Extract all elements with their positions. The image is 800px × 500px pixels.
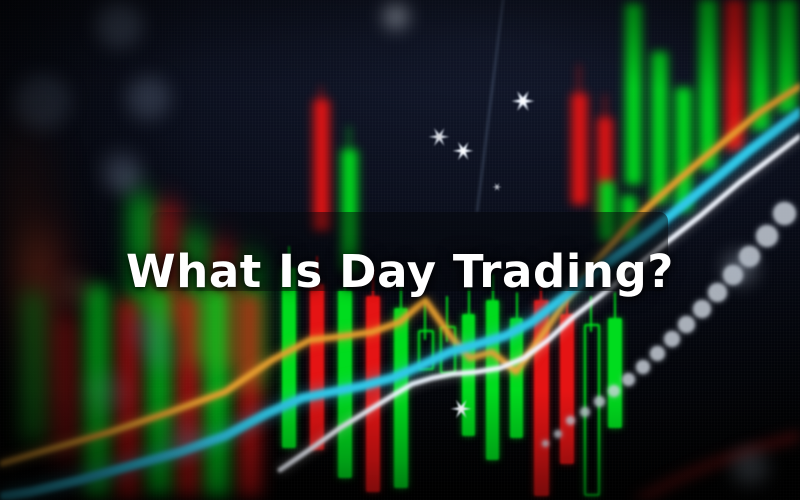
page-title: What Is Day Trading? xyxy=(0,248,800,295)
day-trading-banner: What Is Day Trading? xyxy=(0,0,800,500)
